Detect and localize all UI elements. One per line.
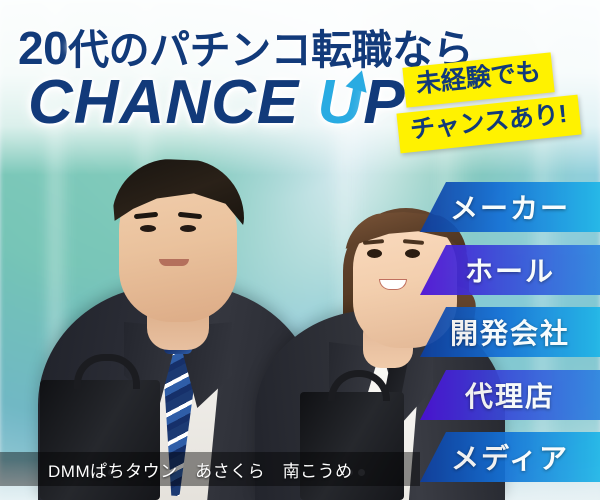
category-button-maker[interactable]: メーカー [420,182,600,232]
category-button-hall[interactable]: ホール [420,245,600,295]
logo-chance-up: CHANCE UP [28,72,406,134]
category-button-media[interactable]: メディア [420,432,600,482]
category-button-developer[interactable]: 開発会社 [420,307,600,357]
logo-word-up: UP [317,72,405,134]
logo-word-chance: CHANCE [28,68,299,137]
pachinko-job-banner[interactable]: 20代のパチンコ転職なら CHANCE UP 未経験でも チャンスあり! メーカ… [0,0,600,500]
credits-bar: DMMぱちタウン あさくら 南こうめ [0,452,420,486]
category-button-agency[interactable]: 代理店 [420,370,600,420]
headline-age-number: 20 [18,22,68,74]
